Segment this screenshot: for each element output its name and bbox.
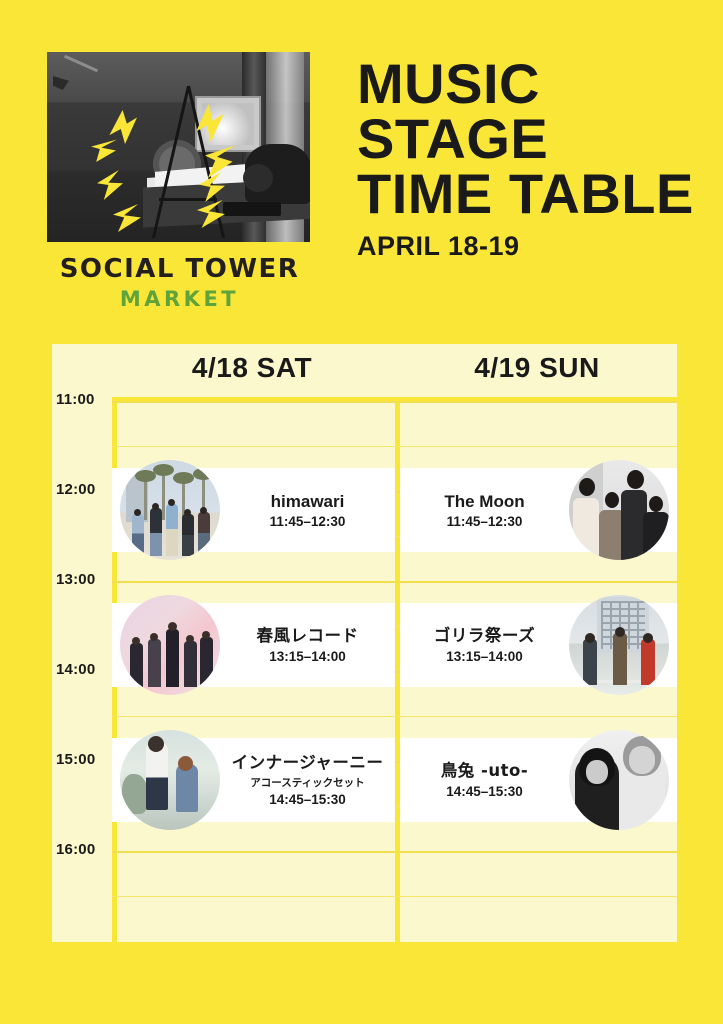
gridline-11-30 bbox=[112, 446, 677, 447]
artist-photo bbox=[120, 460, 220, 560]
event-text: 春風レコード 13:15–14:00 bbox=[220, 626, 395, 664]
photo-person-head bbox=[243, 164, 273, 192]
time-label-1300: 13:00 bbox=[56, 571, 95, 588]
event-time: 11:45–12:30 bbox=[404, 514, 565, 529]
brand-wordmark: SOCIAL TOWER MARKET bbox=[47, 256, 312, 311]
title-date-range: APRIL 18-19 bbox=[357, 231, 694, 262]
event-text: ゴリラ祭ーズ 13:15–14:00 bbox=[400, 626, 569, 664]
artist-photo bbox=[120, 730, 220, 830]
event-card[interactable]: 鳥兔 -uto- 14:45–15:30 bbox=[400, 738, 677, 822]
event-card[interactable]: 春風レコード 13:15–14:00 bbox=[112, 603, 395, 687]
gridline-14-30 bbox=[112, 716, 677, 717]
title-line-3: TIME TABLE bbox=[357, 166, 694, 221]
artist-name: The Moon bbox=[404, 491, 565, 512]
photo-lamp bbox=[53, 58, 99, 92]
event-text: himawari 11:45–12:30 bbox=[220, 491, 395, 529]
schedule-grid: 11:00 12:00 13:00 14:00 15:00 16:00 bbox=[52, 397, 677, 942]
brand-photo bbox=[47, 52, 310, 242]
artist-name: ゴリラ祭ーズ bbox=[404, 626, 565, 647]
schedule-day-header: 4/18 SAT 4/19 SUN bbox=[52, 344, 677, 397]
title-line-2: STAGE bbox=[357, 111, 694, 166]
title-line-1: MUSIC bbox=[357, 56, 694, 111]
event-time: 14:45–15:30 bbox=[404, 784, 565, 799]
artist-photo bbox=[120, 595, 220, 695]
poster-root: SOCIAL TOWER MARKET MUSIC STAGE TIME TAB… bbox=[0, 0, 723, 1024]
gridline-11-00 bbox=[112, 401, 677, 403]
poster-header: SOCIAL TOWER MARKET MUSIC STAGE TIME TAB… bbox=[0, 0, 723, 330]
gridline-16-00 bbox=[112, 851, 677, 853]
event-card[interactable]: The Moon 11:45–12:30 bbox=[400, 468, 677, 552]
brand-name-primary: SOCIAL TOWER bbox=[47, 256, 312, 283]
artist-name: インナージャーニー bbox=[224, 753, 391, 774]
schedule-panel: 4/18 SAT 4/19 SUN 11:00 12:00 bbox=[52, 344, 677, 942]
artist-photo bbox=[569, 595, 669, 695]
gridline-13-00 bbox=[112, 581, 677, 583]
event-text: インナージャーニー アコースティックセット 14:45–15:30 bbox=[220, 753, 395, 807]
event-card[interactable]: インナージャーニー アコースティックセット 14:45–15:30 bbox=[112, 738, 395, 822]
page-title: MUSIC STAGE TIME TABLE APRIL 18-19 bbox=[357, 56, 694, 262]
artist-photo bbox=[569, 460, 669, 560]
event-time: 13:15–14:00 bbox=[224, 649, 391, 664]
time-label-1600: 16:00 bbox=[56, 841, 95, 858]
day-header-sat: 4/18 SAT bbox=[112, 352, 392, 384]
artist-photo bbox=[569, 730, 669, 830]
artist-subtitle: アコースティックセット bbox=[224, 775, 391, 790]
event-card[interactable]: ゴリラ祭ーズ 13:15–14:00 bbox=[400, 603, 677, 687]
brand-name-secondary: MARKET bbox=[47, 287, 312, 311]
event-time: 13:15–14:00 bbox=[404, 649, 565, 664]
time-label-1200: 12:00 bbox=[56, 481, 95, 498]
event-time: 14:45–15:30 bbox=[224, 792, 391, 807]
event-text: 鳥兔 -uto- 14:45–15:30 bbox=[400, 761, 569, 799]
gridline-16-30 bbox=[112, 896, 677, 897]
artist-name: 春風レコード bbox=[224, 626, 391, 647]
time-label-1500: 15:00 bbox=[56, 751, 95, 768]
time-label-1100: 11:00 bbox=[56, 391, 95, 408]
time-label-1400: 14:00 bbox=[56, 661, 95, 678]
day-header-sun: 4/19 SUN bbox=[397, 352, 677, 384]
event-text: The Moon 11:45–12:30 bbox=[400, 491, 569, 529]
brand-logo-block: SOCIAL TOWER MARKET bbox=[47, 52, 312, 311]
event-card[interactable]: himawari 11:45–12:30 bbox=[112, 468, 395, 552]
artist-name: himawari bbox=[224, 491, 391, 512]
event-time: 11:45–12:30 bbox=[224, 514, 391, 529]
artist-name: 鳥兔 -uto- bbox=[404, 761, 565, 782]
